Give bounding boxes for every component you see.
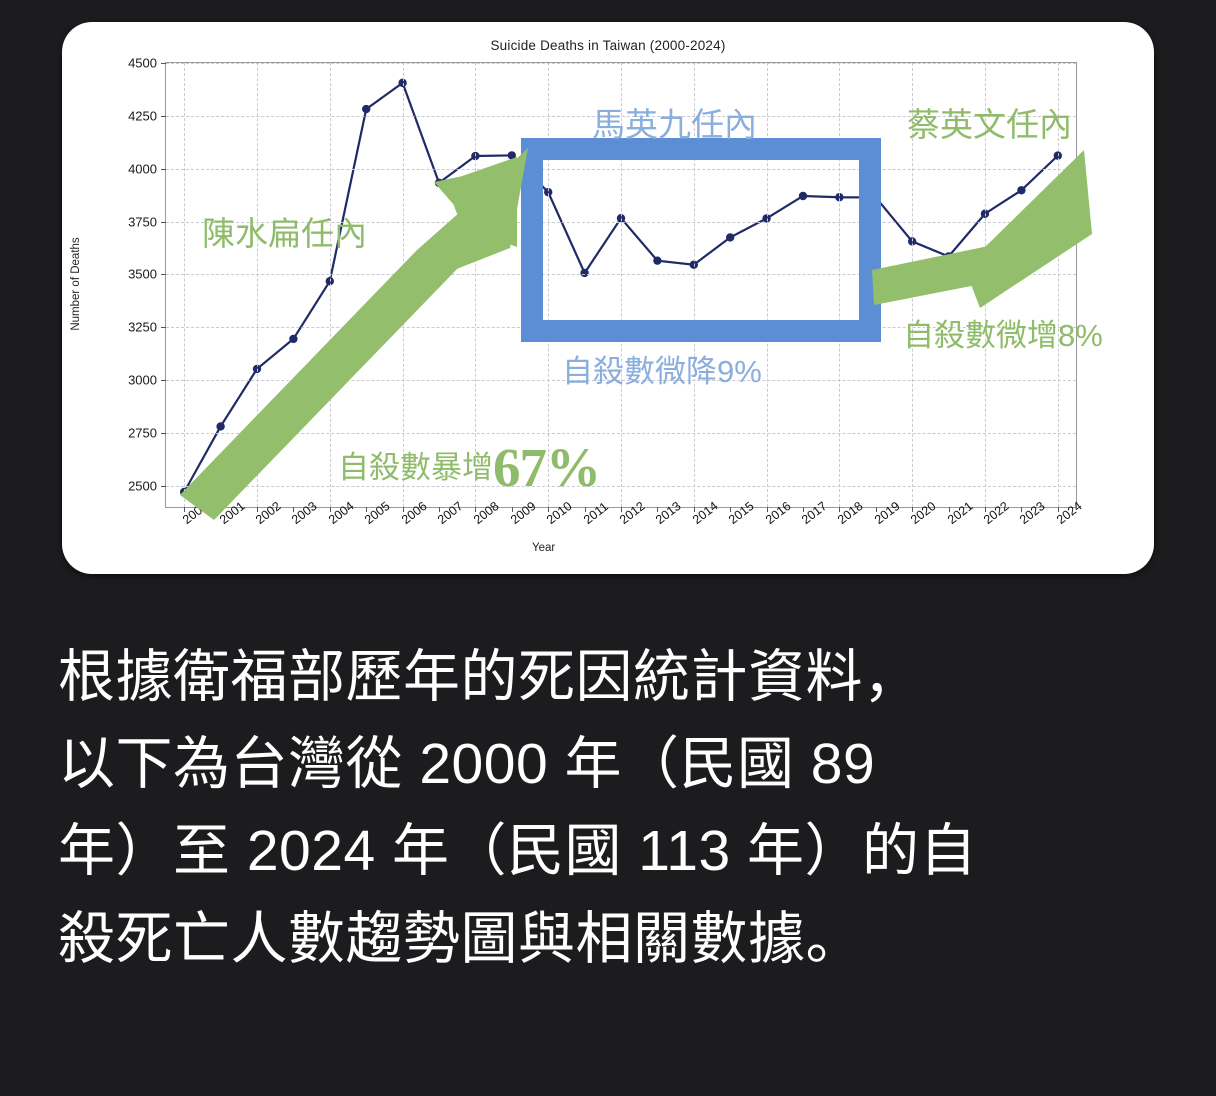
screenshot-root: Suicide Deaths in Taiwan (2000-2024) Num… [0,0,1216,1096]
annotation-ma-era: 馬英九任內 [592,98,757,146]
annotation-chen-era: 陳水扁任內 [202,207,367,255]
annotation-tsai-delta: 自殺數微增8% [903,310,1103,355]
annotation-tsai-era: 蔡英文任內 [907,98,1072,146]
annotation-chen-delta: 自殺數暴增67% [338,436,600,499]
chart-card: Suicide Deaths in Taiwan (2000-2024) Num… [62,22,1154,574]
annotation-chen-delta-text: 自殺數暴增 [338,450,493,485]
caption-line-4: 殺死亡人數趨勢圖與相關數據。 [58,896,1168,983]
caption-line-3: 年）至 2024 年（民國 113 年）的自 [58,808,1168,895]
caption-line-1: 根據衛福部歷年的死因統計資料， [58,634,1168,721]
annotation-chen-delta-value: 67% [493,437,600,498]
chart-card-inner: Suicide Deaths in Taiwan (2000-2024) Num… [62,22,1154,574]
caption-paragraph: 根據衛福部歷年的死因統計資料， 以下為台灣從 2000 年（民國 89 年）至 … [58,634,1168,983]
tsai-era-arrow [872,150,1092,308]
annotation-ma-delta: 自殺數微降9% [562,346,762,391]
caption-line-2: 以下為台灣從 2000 年（民國 89 [58,721,1168,808]
